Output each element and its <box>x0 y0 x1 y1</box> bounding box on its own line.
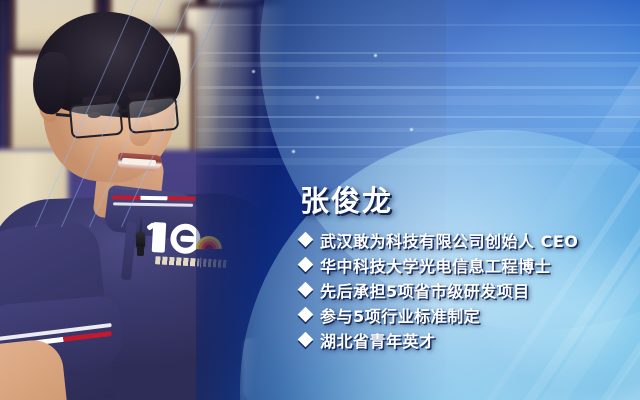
sparkle <box>316 96 319 99</box>
glasses-lens <box>127 96 180 134</box>
credential-text: 先后承担5项省市级研发项目 <box>320 278 530 302</box>
credential-text: 华中科技大学光电信息工程博士 <box>320 253 551 277</box>
sparkle <box>410 128 413 131</box>
subject-info-block: 张俊龙 武汉敢为科技有限公司创始人 CEO 华中科技大学光电信息工程博士 先后承… <box>300 186 640 352</box>
teeth <box>122 158 156 166</box>
mouth <box>117 152 162 171</box>
credential-text: 参与5项行业标准制定 <box>320 303 480 327</box>
diamond-bullet-icon <box>298 307 314 323</box>
list-item: 先后承担5项省市级研发项目 <box>300 277 640 302</box>
list-item: 参与5项行业标准制定 <box>300 302 640 327</box>
credential-text: 湖北省青年英才 <box>320 328 436 352</box>
list-item: 华中科技大学光电信息工程博士 <box>300 252 640 277</box>
diamond-bullet-icon <box>298 282 314 298</box>
sparkle <box>292 150 295 153</box>
list-item: 湖北省青年英才 <box>300 327 640 352</box>
video-frame: 张俊龙 武汉敢为科技有限公司创始人 CEO 华中科技大学光电信息工程博士 先后承… <box>0 0 640 400</box>
microphone-clip <box>137 246 144 256</box>
sparkle <box>374 54 377 57</box>
logo-wordmark <box>155 256 199 266</box>
logo-numeral-one <box>152 222 167 253</box>
credentials-list: 武汉敢为科技有限公司创始人 CEO 华中科技大学光电信息工程博士 先后承担5项省… <box>300 227 640 352</box>
diamond-bullet-icon <box>298 257 314 273</box>
glasses-lens <box>69 101 124 139</box>
diamond-bullet-icon <box>298 232 314 248</box>
credential-text: 武汉敢为科技有限公司创始人 CEO <box>320 228 578 252</box>
sparkle <box>252 70 255 73</box>
list-item: 武汉敢为科技有限公司创始人 CEO <box>300 227 640 252</box>
diamond-bullet-icon <box>298 332 314 348</box>
subject-name: 张俊龙 <box>300 186 640 217</box>
